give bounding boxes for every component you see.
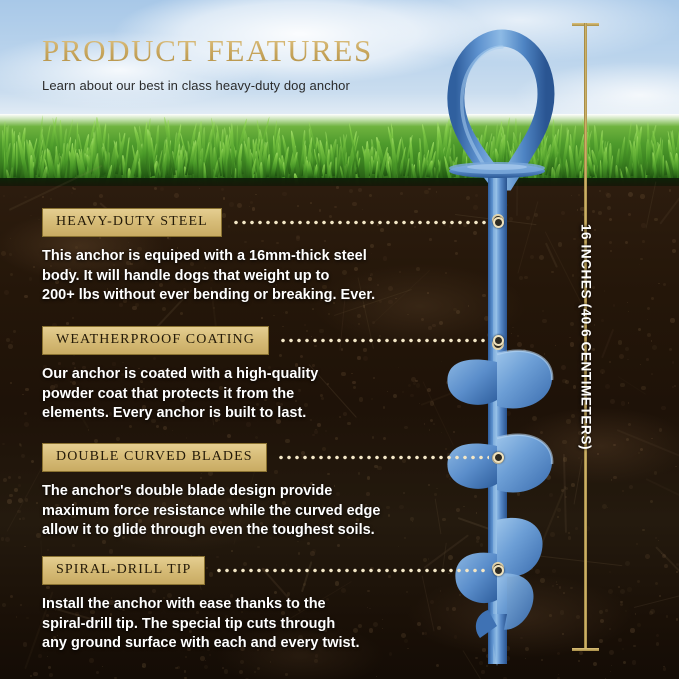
page-subtitle: Learn about our best in class heavy-duty… xyxy=(42,78,462,93)
feature-badge-row: HEAVY-DUTY STEEL xyxy=(42,208,504,237)
measurement-cap-bottom xyxy=(572,648,599,651)
feature-badge-row: WEATHERPROOF COATING xyxy=(42,326,504,355)
feature-badge-row: SPIRAL-DRILL TIP xyxy=(42,556,504,585)
leader-endpoint xyxy=(493,565,504,576)
leader-endpoint xyxy=(493,217,504,228)
feature-badge-label: SPIRAL-DRILL TIP xyxy=(42,556,205,585)
product-features-poster: PRODUCT FEATURES Learn about our best in… xyxy=(0,0,679,679)
feature-badge-label: WEATHERPROOF COATING xyxy=(42,326,269,355)
feature-badge-label: DOUBLE CURVED BLADES xyxy=(42,443,267,472)
loop-handle xyxy=(456,38,546,182)
header: PRODUCT FEATURES Learn about our best in… xyxy=(42,33,462,93)
leader-line xyxy=(215,568,489,573)
feature-heavy-duty-steel: HEAVY-DUTY STEEL This anchor is equiped … xyxy=(42,208,504,306)
feature-weatherproof-coating: WEATHERPROOF COATING Our anchor is coate… xyxy=(42,326,504,424)
page-title: PRODUCT FEATURES xyxy=(42,33,462,69)
leader-line xyxy=(277,455,489,460)
feature-description: Our anchor is coated with a high-quality… xyxy=(42,365,504,424)
feature-description: Install the anchor with ease thanks to t… xyxy=(42,595,504,654)
leader-endpoint xyxy=(493,335,504,346)
feature-badge-row: DOUBLE CURVED BLADES xyxy=(42,443,504,472)
measurement-indicator: 16 INCHES (40.6 CENTIMETERS) xyxy=(578,23,594,651)
ground-plate xyxy=(449,162,545,178)
feature-spiral-drill-tip: SPIRAL-DRILL TIP Install the anchor with… xyxy=(42,556,504,654)
leader-endpoint xyxy=(493,452,504,463)
feature-badge-label: HEAVY-DUTY STEEL xyxy=(42,208,222,237)
leader-line xyxy=(279,338,489,343)
leader-line xyxy=(232,220,489,225)
measurement-label: 16 INCHES (40.6 CENTIMETERS) xyxy=(579,224,594,450)
feature-description: This anchor is equiped with a 16mm-thick… xyxy=(42,247,504,306)
feature-double-curved-blades: DOUBLE CURVED BLADES The anchor's double… xyxy=(42,443,504,541)
feature-description: The anchor's double blade design provide… xyxy=(42,482,504,541)
